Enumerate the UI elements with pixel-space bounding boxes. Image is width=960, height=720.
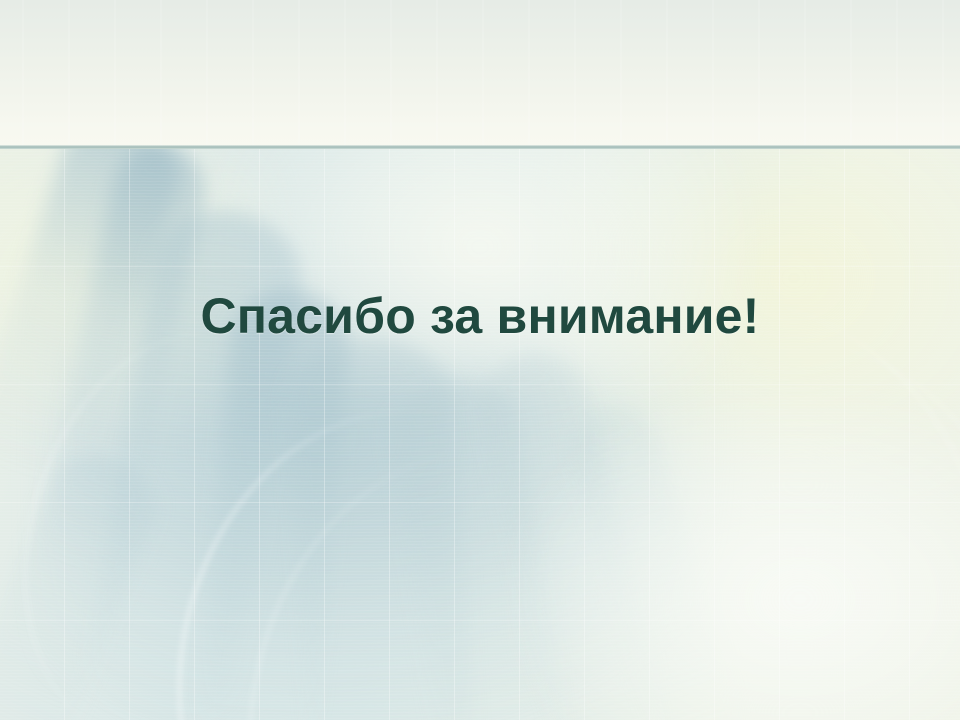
slide-top-banner: [0, 0, 960, 147]
presentation-slide: Спасибо за внимание!: [0, 0, 960, 720]
slide-content-area: Спасибо за внимание!: [0, 149, 960, 720]
banner-warm-glow: [0, 40, 380, 147]
background-haze-lower-right: [520, 399, 960, 720]
